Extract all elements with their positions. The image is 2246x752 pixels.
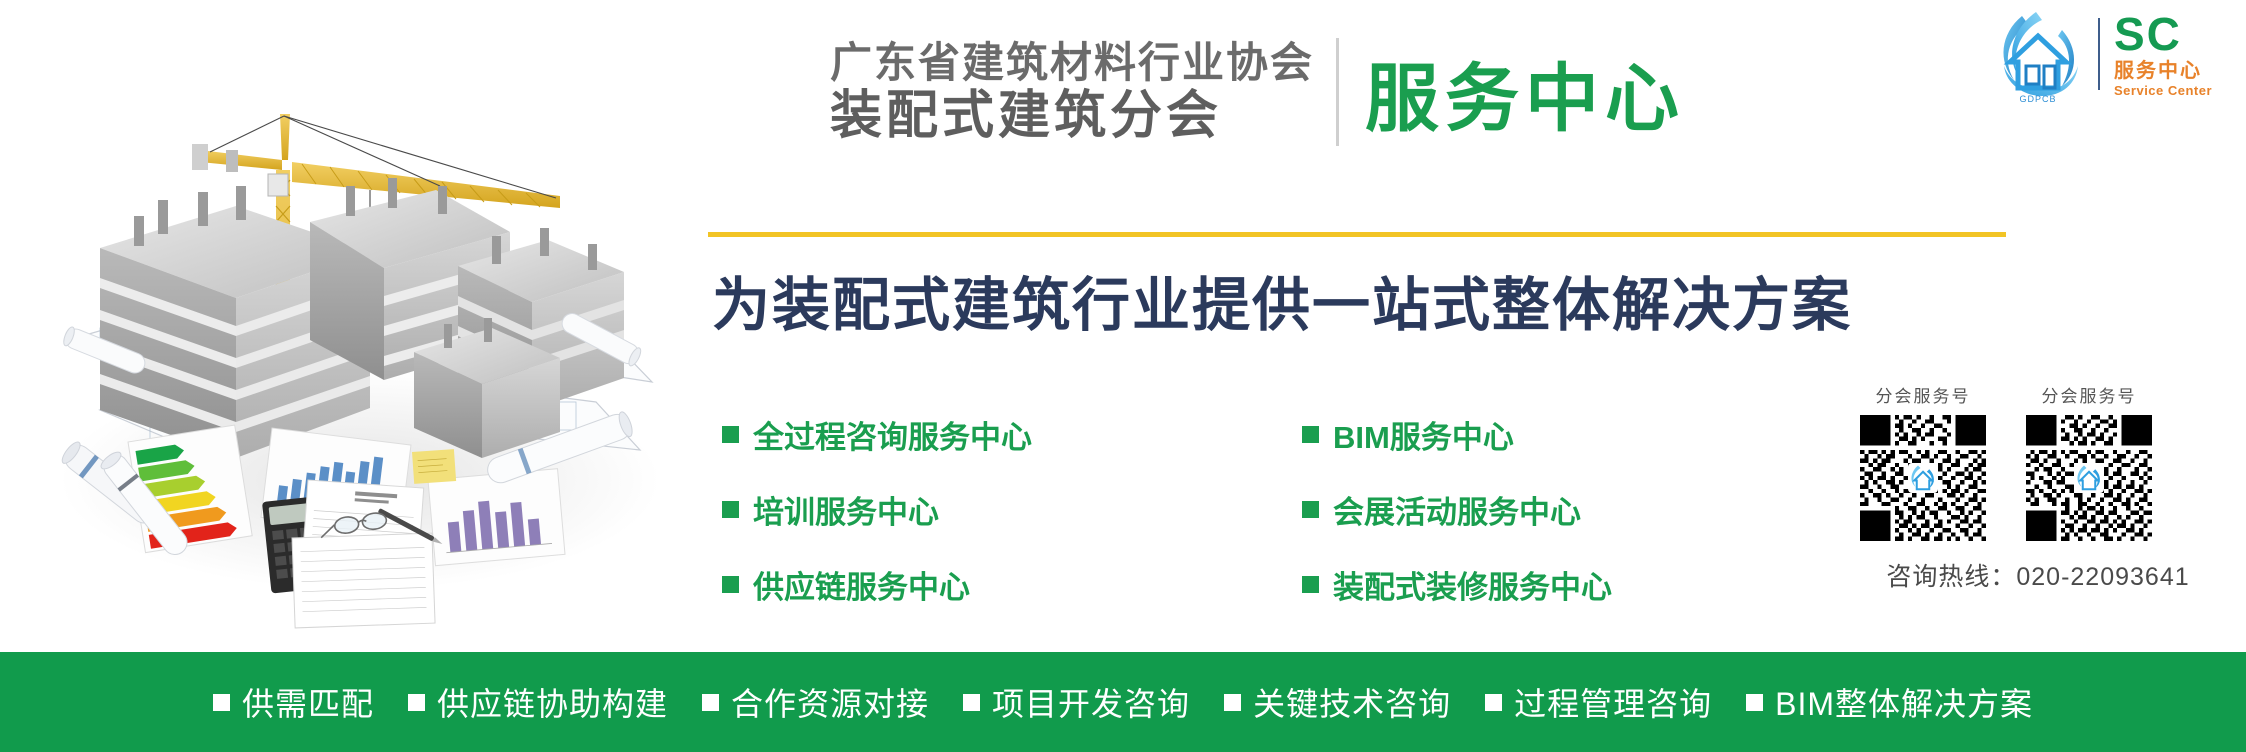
brand-name-en: Service Center bbox=[2114, 84, 2212, 97]
bottom-bar-label: 项目开发咨询 bbox=[992, 679, 1190, 725]
qr-code-image[interactable] bbox=[1860, 415, 1986, 541]
list-item[interactable]: 合作资源对接 bbox=[702, 679, 929, 725]
association-name-line1: 广东省建筑材料行业协会 bbox=[830, 42, 1314, 84]
list-item[interactable]: 装配式装修服务中心 bbox=[1302, 562, 1612, 607]
qr-code-image[interactable] bbox=[2026, 415, 2152, 541]
list-item[interactable]: 关键技术咨询 bbox=[1224, 679, 1451, 725]
list-item[interactable]: 供应链协助构建 bbox=[408, 679, 668, 725]
list-item[interactable]: 会展活动服务中心 bbox=[1302, 487, 1612, 532]
brand-name-cn: 服务中心 bbox=[2114, 61, 2212, 81]
square-bullet-icon bbox=[1224, 694, 1241, 711]
square-bullet-icon bbox=[408, 694, 425, 711]
house-flame-logo-icon bbox=[1908, 463, 1938, 493]
square-bullet-icon bbox=[213, 694, 230, 711]
bottom-bar-label: 合作资源对接 bbox=[731, 679, 929, 725]
bottom-bar-label: BIM整体解决方案 bbox=[1775, 679, 2033, 725]
square-bullet-icon bbox=[702, 694, 719, 711]
title-divider bbox=[1336, 38, 1339, 146]
square-bullet-icon bbox=[1302, 501, 1319, 518]
service-label: BIM服务中心 bbox=[1333, 412, 1514, 457]
brand-mark-caption: GDPCB bbox=[1992, 94, 2084, 104]
bottom-service-bar: 供需匹配 供应链协助构建 合作资源对接 项目开发咨询 关键技术咨询 过程管理咨询… bbox=[0, 652, 2246, 752]
banner-root: 广东省建筑材料行业协会 装配式建筑分会 服务中心 bbox=[0, 0, 2246, 752]
square-bullet-icon bbox=[1302, 576, 1319, 593]
bottom-bar-label: 过程管理咨询 bbox=[1514, 679, 1712, 725]
service-label: 装配式装修服务中心 bbox=[1333, 562, 1612, 607]
list-item[interactable]: BIM服务中心 bbox=[1302, 412, 1612, 457]
page-subtitle: 为装配式建筑行业提供一站式整体解决方案 bbox=[712, 258, 1852, 342]
qr-caption: 分会服务号 bbox=[1876, 382, 1971, 407]
house-flame-logo-icon: GDPCB bbox=[1992, 8, 2084, 100]
brand-abbr: SC bbox=[2114, 11, 2212, 57]
service-label: 全过程咨询服务中心 bbox=[753, 412, 1032, 457]
bottom-bar-label: 供需匹配 bbox=[242, 679, 374, 725]
qr-caption: 分会服务号 bbox=[2042, 382, 2137, 407]
service-label: 会展活动服务中心 bbox=[1333, 487, 1581, 532]
square-bullet-icon bbox=[722, 426, 739, 443]
square-bullet-icon bbox=[1485, 694, 1502, 711]
square-bullet-icon bbox=[963, 694, 980, 711]
bottom-bar-label: 关键技术咨询 bbox=[1253, 679, 1451, 725]
brand-divider bbox=[2098, 18, 2100, 90]
qr-contact-block: 分会服务号 bbox=[1838, 382, 2238, 593]
qr-cell: 分会服务号 bbox=[2026, 382, 2152, 541]
square-bullet-icon bbox=[1302, 426, 1319, 443]
list-item[interactable]: 供需匹配 bbox=[213, 679, 374, 725]
qr-row: 分会服务号 bbox=[1838, 382, 2238, 541]
brand-logo: GDPCB SC 服务中心 Service Center bbox=[1992, 8, 2212, 100]
bottom-bar-label: 供应链协助构建 bbox=[437, 679, 668, 725]
square-bullet-icon bbox=[722, 501, 739, 518]
service-label: 供应链服务中心 bbox=[753, 562, 970, 607]
house-flame-logo-icon bbox=[2074, 463, 2104, 493]
qr-cell: 分会服务号 bbox=[1860, 382, 1986, 541]
construction-site-render bbox=[40, 10, 680, 630]
list-item[interactable]: 培训服务中心 bbox=[722, 487, 1032, 532]
association-name: 广东省建筑材料行业协会 装配式建筑分会 bbox=[830, 42, 1314, 142]
hotline-text: 咨询热线：020-22093641 bbox=[1838, 557, 2238, 593]
list-item[interactable]: 全过程咨询服务中心 bbox=[722, 412, 1032, 457]
service-center-heading: 服务中心 bbox=[1365, 39, 1685, 146]
square-bullet-icon bbox=[1746, 694, 1763, 711]
service-list-left: 全过程咨询服务中心 培训服务中心 供应链服务中心 bbox=[722, 412, 1032, 607]
yellow-divider-rule bbox=[708, 232, 2006, 237]
brand-text: SC 服务中心 Service Center bbox=[2114, 11, 2212, 97]
square-bullet-icon bbox=[722, 576, 739, 593]
service-list-right: BIM服务中心 会展活动服务中心 装配式装修服务中心 bbox=[1302, 412, 1612, 607]
list-item[interactable]: 过程管理咨询 bbox=[1485, 679, 1712, 725]
list-item[interactable]: BIM整体解决方案 bbox=[1746, 679, 2033, 725]
header-title-block: 广东省建筑材料行业协会 装配式建筑分会 服务中心 bbox=[830, 38, 1685, 146]
list-item[interactable]: 项目开发咨询 bbox=[963, 679, 1190, 725]
association-name-line2: 装配式建筑分会 bbox=[830, 90, 1314, 142]
list-item[interactable]: 供应链服务中心 bbox=[722, 562, 1032, 607]
service-label: 培训服务中心 bbox=[753, 487, 939, 532]
